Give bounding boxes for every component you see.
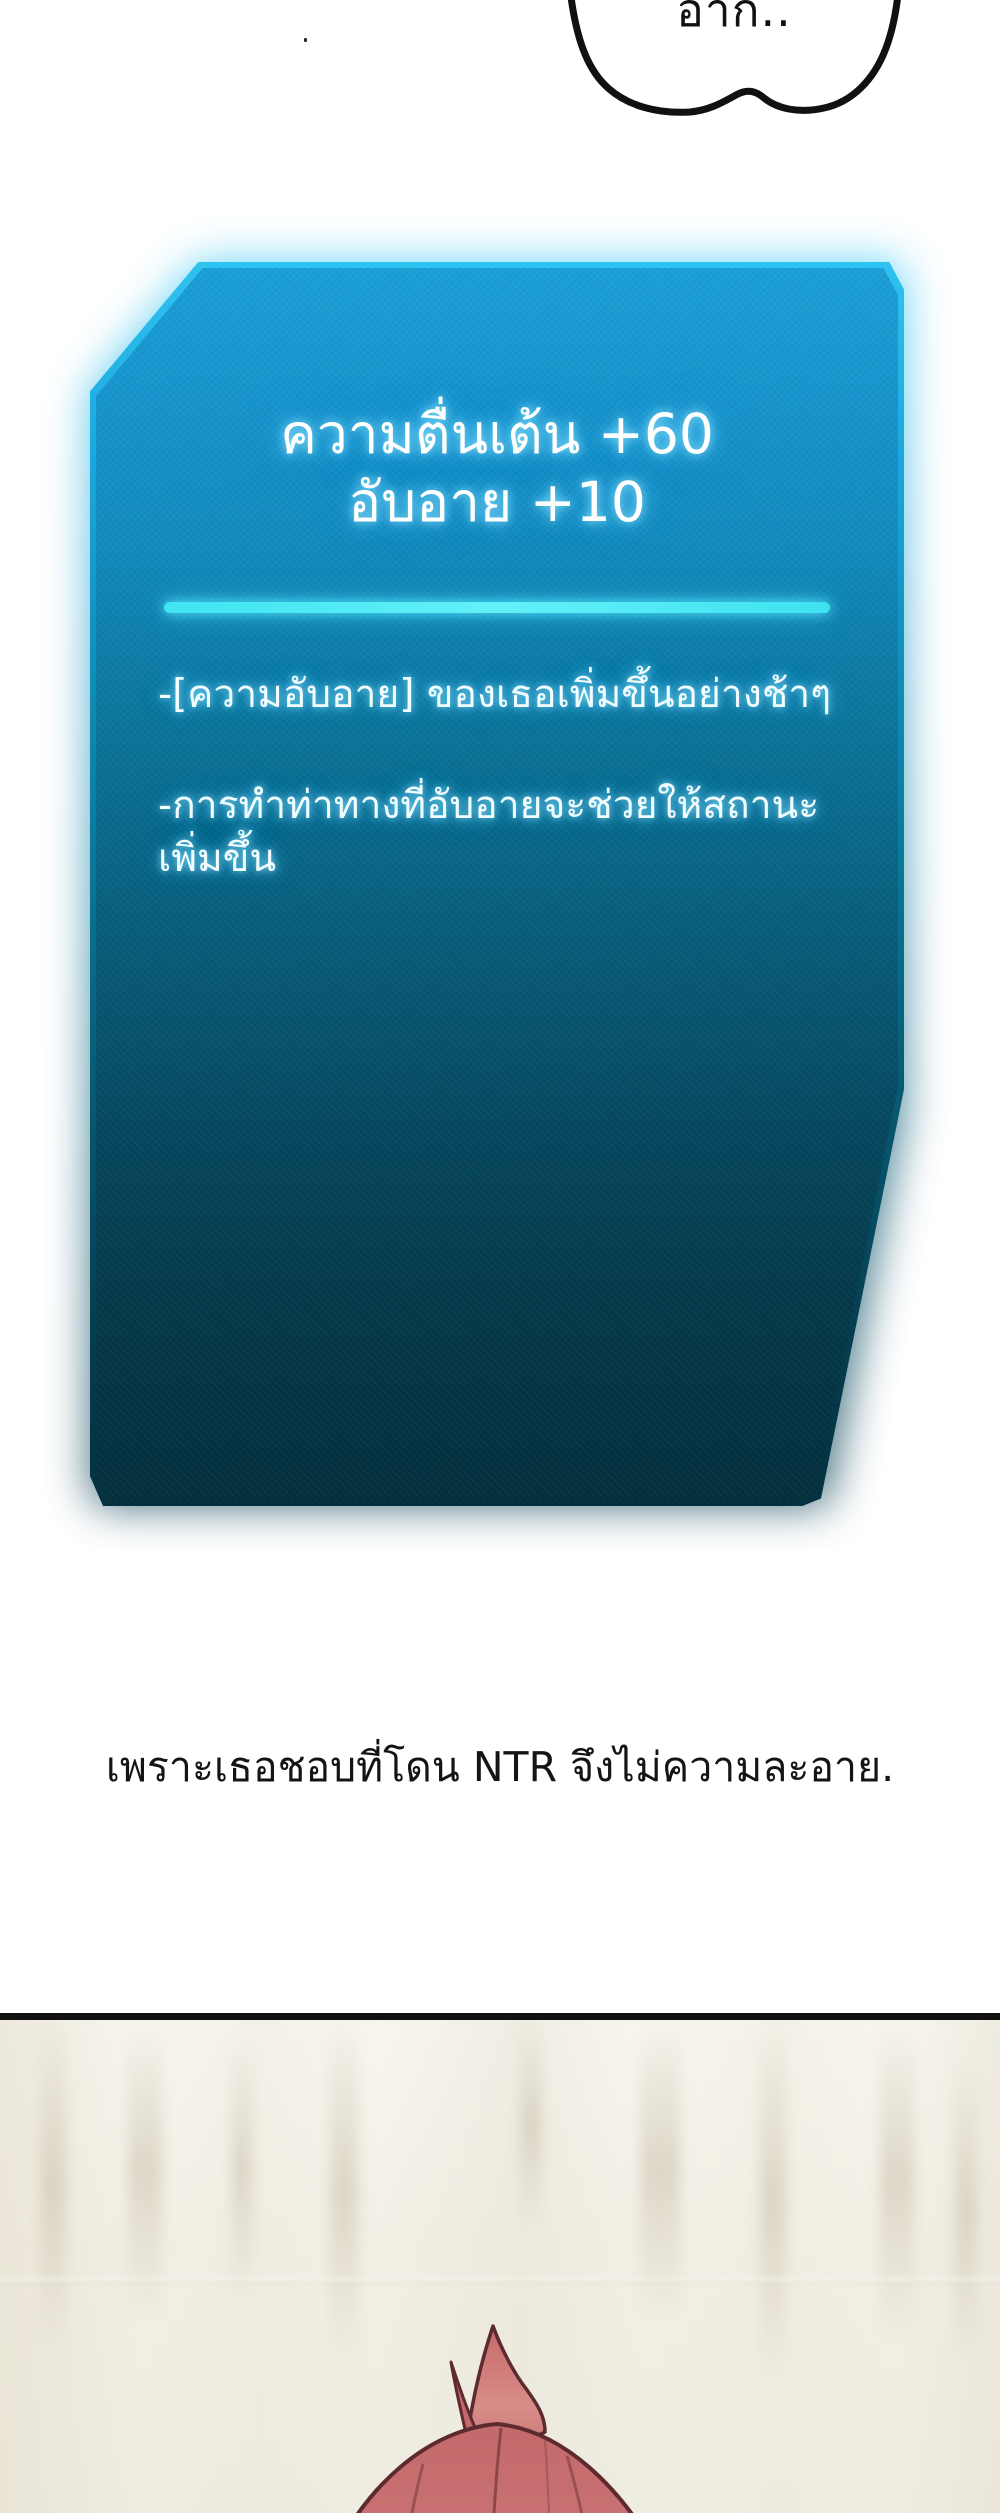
girl-back-view [215, 2320, 785, 2513]
wall-streak [40, 2020, 66, 2350]
bottom-panel [0, 2020, 1000, 2513]
card-body-line-2: -การทำท่าทางที่อับอายจะช่วยให้สถานะเพิ่ม… [158, 779, 858, 885]
card-title-line-1: ความตื่นเต้น +60 [96, 400, 898, 468]
card-title: ความตื่นเต้น +60 อับอาย +10 [96, 400, 898, 536]
card-body: -[ความอับอาย] ของเธอเพิ่มขึ้นอย่างช้าๆ -… [158, 668, 858, 943]
card-content: ความตื่นเต้น +60 อับอาย +10 -[ความอับอาย… [96, 268, 898, 1500]
wall-streak [330, 2020, 358, 2360]
card-divider [164, 602, 830, 613]
panel-divider-rule [0, 2013, 1000, 2020]
narration-caption: เพราะเธอชอบที่โดน NTR จึงไม่ความละอาย. [0, 1735, 1000, 1800]
stray-ink-dot [304, 38, 307, 42]
card-title-line-2: อับอาย +10 [96, 468, 898, 536]
wall-streak [955, 2060, 977, 2360]
wall-seam [0, 2278, 1000, 2283]
wall-streak [880, 2020, 914, 2340]
system-status-card: ความตื่นเต้น +60 อับอาย +10 -[ความอับอาย… [46, 218, 948, 1550]
wall-streak [128, 2020, 162, 2320]
wall-streak [232, 2040, 252, 2300]
speech-bubble-text: อ้าก.. [562, 0, 906, 47]
wall-streak [520, 2020, 542, 2230]
top-panel-bubble-area: อ้าก.. [0, 0, 1000, 200]
card-body-line-1: -[ความอับอาย] ของเธอเพิ่มขึ้นอย่างช้าๆ [158, 668, 858, 721]
wall-streak [640, 2020, 680, 2320]
